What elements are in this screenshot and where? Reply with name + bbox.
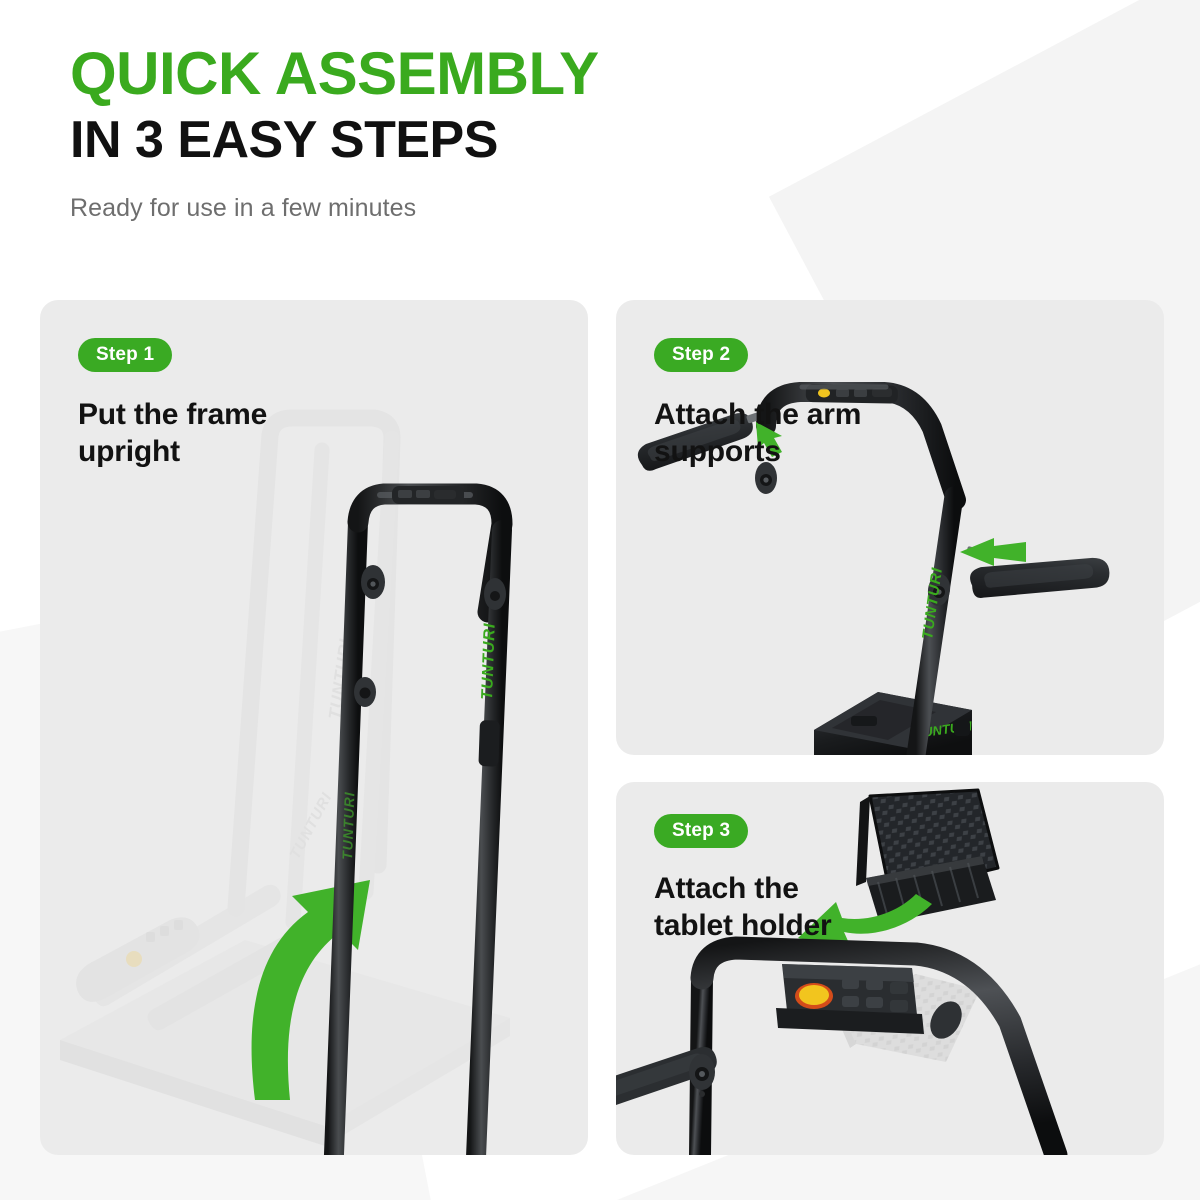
svg-text:TUNTURI: TUNTURI: [339, 791, 357, 860]
step-card-2: TUNTURI: [616, 300, 1164, 755]
assembly-arrow-icon: [252, 880, 370, 1100]
svg-text:TUNTURI: TUNTURI: [914, 718, 973, 741]
headline-primary: QUICK ASSEMBLY: [70, 44, 770, 104]
step-card-3: Step 3 Attach the tablet holder: [616, 782, 1164, 1155]
svg-text:TUNTURI: TUNTURI: [479, 622, 499, 700]
step-2-title: Attach the arm supports: [654, 396, 861, 470]
step-card-1: TUNTURI TUNTURI: [40, 300, 588, 1155]
upright-handlebar-frame: TUNTURI TUNTURI: [316, 486, 506, 1155]
step-1-title: Put the frame upright: [78, 396, 267, 470]
arrow-left-icon: [960, 538, 1026, 566]
svg-text:TUNTURI: TUNTURI: [325, 637, 355, 721]
svg-text:TUNTURI: TUNTURI: [919, 566, 946, 640]
console-panel: [776, 964, 924, 1034]
step-3-badge: Step 3: [654, 814, 748, 848]
page-header: QUICK ASSEMBLY IN 3 EASY STEPS Ready for…: [70, 44, 770, 223]
svg-text:TUNTURI: TUNTURI: [287, 790, 336, 862]
treadmill-base: TUNTURI: [814, 692, 973, 755]
arm-support-right: [966, 529, 1113, 627]
tablet-holder-ghost: [832, 974, 980, 1062]
ghost-frame: TUNTURI TUNTURI: [60, 418, 510, 1146]
page-subtitle: Ready for use in a few minutes: [70, 194, 770, 223]
headline-secondary: IN 3 EASY STEPS: [70, 112, 770, 168]
tablet-holder: [856, 790, 998, 924]
step-2-badge: Step 2: [654, 338, 748, 372]
step-3-title: Attach the tablet holder: [654, 870, 831, 944]
step-1-badge: Step 1: [78, 338, 172, 372]
handlebar-console: [616, 948, 1056, 1155]
